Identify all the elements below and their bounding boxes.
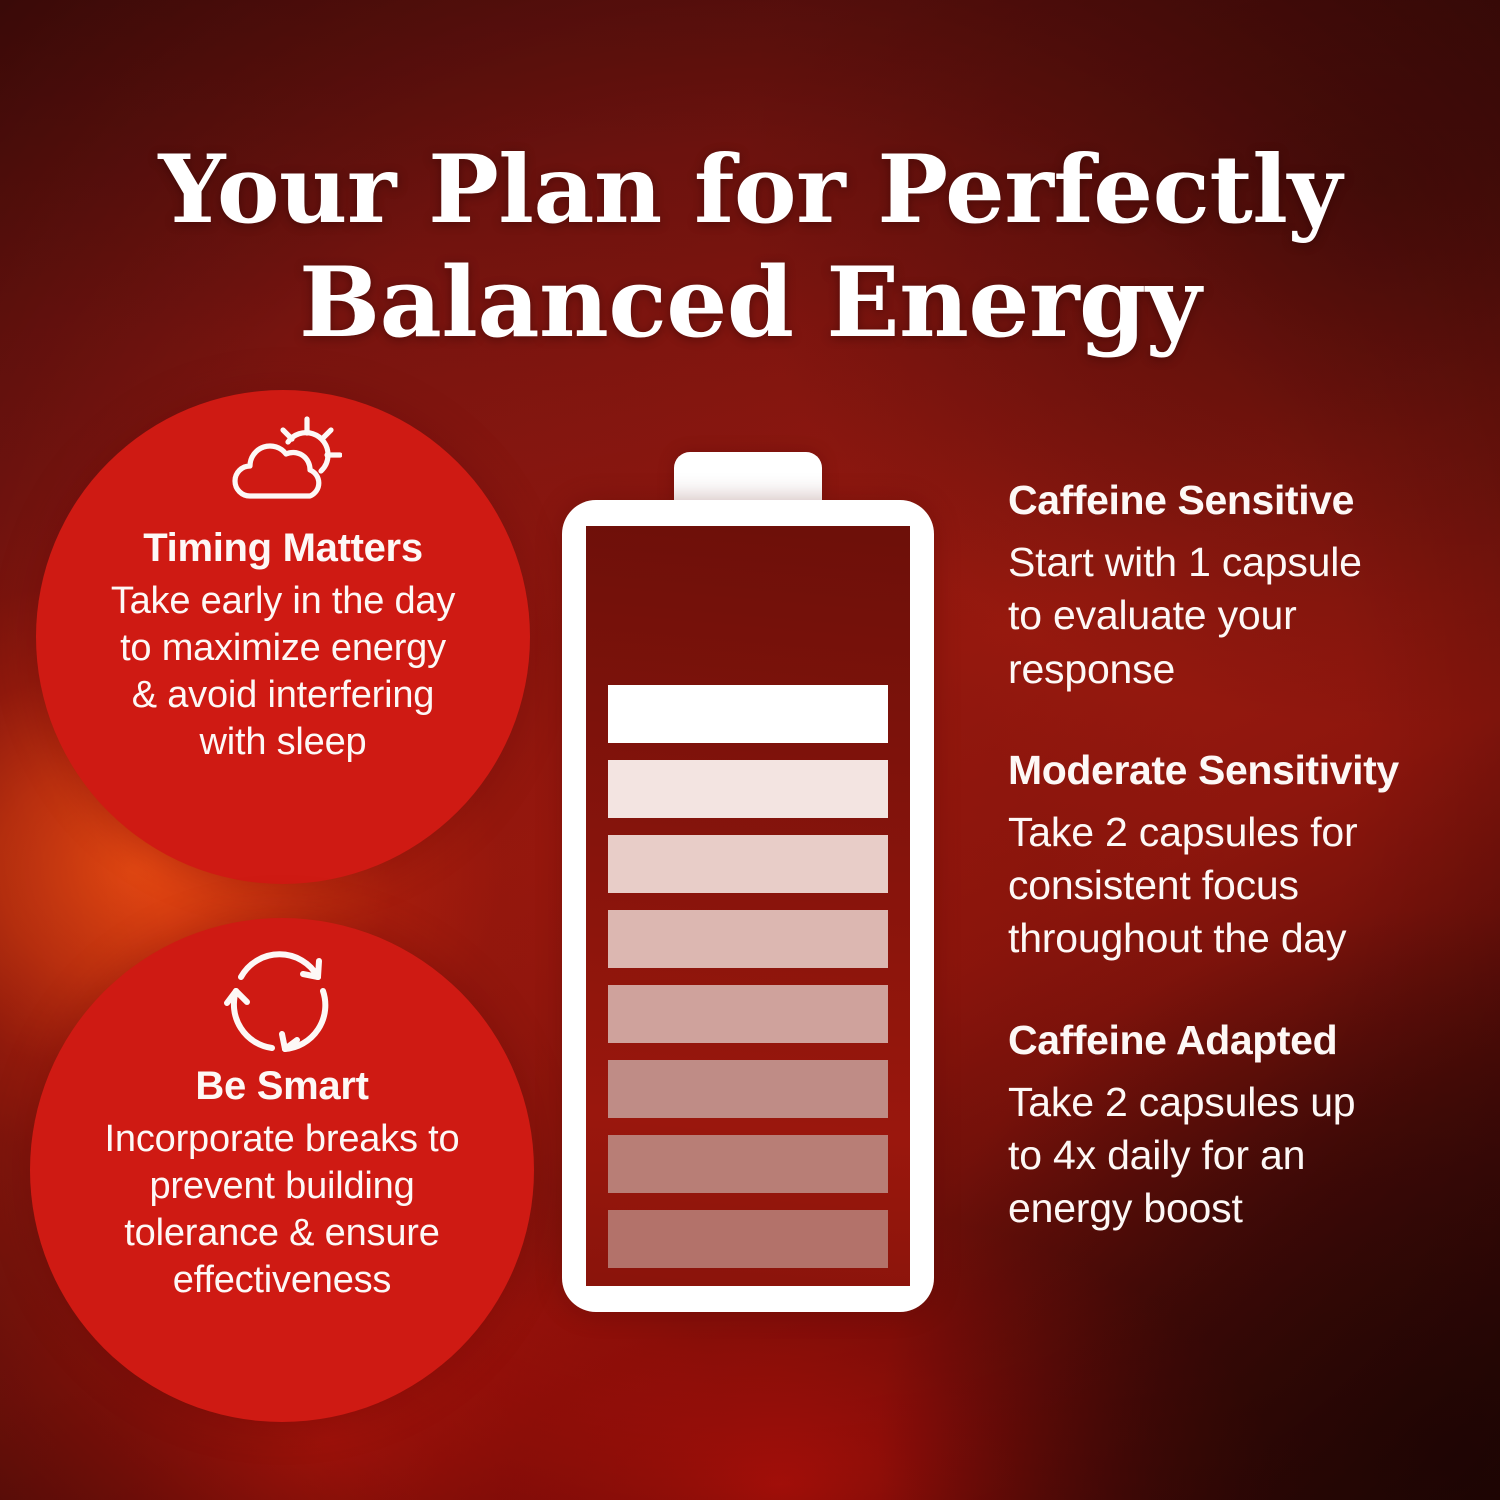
dosage-heading: Caffeine Sensitive (1008, 478, 1460, 524)
dosage-body: Start with 1 capsule to evaluate your re… (1008, 536, 1460, 696)
dosage-block-caffeine-adapted: Caffeine Adapted Take 2 capsules up to 4… (1008, 1018, 1460, 1236)
page-title-line-1: Your Plan for Perfectly (60, 135, 1440, 246)
battery-segment (608, 1210, 888, 1268)
tip-body-line: & avoid interfering (111, 672, 455, 719)
battery-segment (608, 685, 888, 743)
tip-body-line: effectiveness (105, 1257, 460, 1304)
tip-circle-be-smart: Be Smart Incorporate breaks to prevent b… (30, 918, 534, 1422)
battery-shell (562, 500, 934, 1312)
dosage-body: Take 2 capsules up to 4x daily for an en… (1008, 1076, 1460, 1236)
battery-segment (608, 1060, 888, 1118)
battery-segment (608, 985, 888, 1043)
battery-segment (608, 1135, 888, 1193)
tip-heading: Be Smart (195, 1064, 368, 1108)
page-title-line-2: Balanced Energy (60, 246, 1440, 359)
dosage-block-moderate-sensitivity: Moderate Sensitivity Take 2 capsules for… (1008, 748, 1460, 966)
battery-segment (608, 910, 888, 968)
dosage-body-line: Start with 1 capsule (1008, 536, 1460, 589)
tip-body-line: to maximize energy (111, 625, 455, 672)
battery-segments-container (586, 526, 910, 1286)
tip-body-line: prevent building (105, 1163, 460, 1210)
battery-icon (562, 452, 934, 1312)
dosage-body-line: to evaluate your (1008, 589, 1460, 642)
dosage-body-line: to 4x daily for an (1008, 1129, 1460, 1182)
tip-body-line: with sleep (111, 719, 455, 766)
dosage-heading: Caffeine Adapted (1008, 1018, 1460, 1064)
battery-segment (608, 835, 888, 893)
tip-circle-timing-matters: Timing Matters Take early in the day to … (36, 390, 530, 884)
battery-segment (608, 760, 888, 818)
dosage-body-line: energy boost (1008, 1182, 1460, 1235)
dosage-heading: Moderate Sensitivity (1008, 748, 1460, 794)
page-title: Your Plan for Perfectly Balanced Energy (0, 135, 1500, 359)
dosage-guide-column: Caffeine Sensitive Start with 1 capsule … (1008, 478, 1460, 1235)
dosage-body-line: throughout the day (1008, 912, 1460, 965)
tip-body: Incorporate breaks to prevent building t… (91, 1116, 474, 1304)
dosage-block-caffeine-sensitive: Caffeine Sensitive Start with 1 capsule … (1008, 478, 1460, 696)
tip-body: Take early in the day to maximize energy… (97, 578, 469, 766)
sun-behind-cloud-icon (224, 416, 342, 516)
dosage-body-line: response (1008, 643, 1460, 696)
tip-body-line: tolerance & ensure (105, 1210, 460, 1257)
dosage-body-line: Take 2 capsules up (1008, 1076, 1460, 1129)
dosage-body: Take 2 capsules for consistent focus thr… (1008, 806, 1460, 966)
tip-body-line: Incorporate breaks to (105, 1116, 460, 1163)
tip-heading: Timing Matters (143, 526, 423, 570)
infographic-poster: Your Plan for Perfectly Balanced Energy … (0, 0, 1500, 1500)
tip-body-line: Take early in the day (111, 578, 455, 625)
cycle-arrows-icon (219, 944, 345, 1056)
dosage-body-line: Take 2 capsules for (1008, 806, 1460, 859)
dosage-body-line: consistent focus (1008, 859, 1460, 912)
